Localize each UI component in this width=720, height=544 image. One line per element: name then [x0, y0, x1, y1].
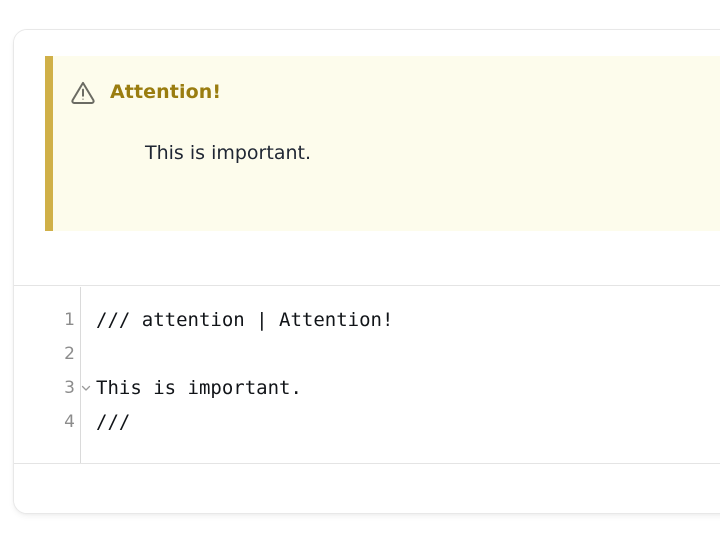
code-line	[96, 337, 720, 371]
code-editor[interactable]: 1 2 3 4 /// atten	[14, 287, 720, 464]
gutter-row: 2	[14, 337, 80, 371]
gutter-row: 1	[14, 303, 80, 337]
line-number: 4	[64, 414, 75, 431]
gutter-row: 3	[14, 371, 80, 405]
line-number-gutter: 1 2 3 4	[14, 287, 81, 463]
code-line: /// attention | Attention!	[96, 303, 720, 337]
admonition-title-row: Attention!	[69, 78, 221, 106]
line-number: 2	[64, 346, 75, 363]
warning-triangle-icon	[69, 78, 97, 106]
line-number: 1	[64, 312, 75, 329]
admonition-attention: Attention! This is important.	[45, 56, 720, 231]
preview-pane: Attention! This is important.	[14, 30, 720, 286]
markdown-playground-card: Attention! This is important. 1 2 3	[13, 29, 720, 514]
admonition-body-text: This is important.	[145, 142, 311, 164]
code-pane: 1 2 3 4 /// atten	[14, 287, 720, 513]
line-number: 3	[64, 380, 75, 397]
code-text-area[interactable]: /// attention | Attention! This is impor…	[81, 287, 720, 463]
gutter-row: 4	[14, 405, 80, 439]
code-line: ///	[96, 405, 720, 439]
code-line: This is important.	[96, 371, 720, 405]
admonition-title: Attention!	[110, 81, 221, 103]
